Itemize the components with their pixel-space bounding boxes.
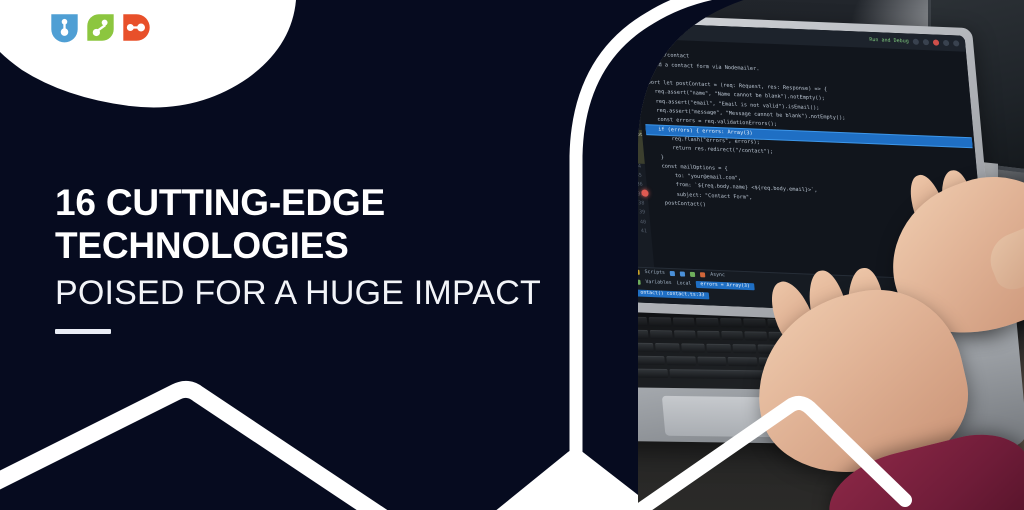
logo-leaf-green-icon xyxy=(84,11,117,44)
settings-icon[interactable] xyxy=(943,40,950,46)
step-into-icon[interactable] xyxy=(680,271,685,276)
marketing-banner: contacts.ts Run and Debug xyxy=(0,0,1024,510)
line-number: 41 xyxy=(640,227,651,237)
scope-label: Local xyxy=(677,281,692,287)
editor-path-chip: rary root xyxy=(616,129,645,164)
accent-rule xyxy=(55,329,111,334)
run-config-label[interactable]: Run and Debug xyxy=(869,37,909,45)
bottom-left-chevron-stroke xyxy=(0,389,402,510)
line-number: 39 xyxy=(639,209,650,219)
search-icon[interactable] xyxy=(953,40,960,46)
hero-photo: contacts.ts Run and Debug xyxy=(560,0,1024,510)
chevron-down-icon[interactable] xyxy=(635,280,640,285)
brand-logo[interactable] xyxy=(48,11,153,44)
debug-status: ontact() contact.ts:33 xyxy=(636,290,709,300)
step-over-icon[interactable] xyxy=(670,271,675,276)
line-number: 21 xyxy=(624,42,635,52)
breakpoint-icon[interactable] xyxy=(641,189,649,196)
line-number: 24 xyxy=(626,70,637,80)
stop-icon[interactable] xyxy=(933,39,940,45)
resume-icon[interactable] xyxy=(700,272,705,277)
line-number: 26 xyxy=(628,88,639,98)
scripts-icon[interactable] xyxy=(634,270,639,275)
line-number: 40 xyxy=(640,218,651,228)
line-number: 28 xyxy=(630,107,641,117)
line-number: 23 xyxy=(625,60,636,70)
line-number: 38 xyxy=(638,199,649,209)
line-number: 25 xyxy=(627,79,638,89)
play-icon[interactable] xyxy=(913,39,920,45)
hero-text-block: 16 CUTTING-EDGE TECHNOLOGIES POISED FOR … xyxy=(55,181,575,334)
line-number: 29 xyxy=(630,116,641,126)
editor-path-label: rary root xyxy=(616,129,643,141)
page-subtitle: POISED FOR A HUGE IMPACT xyxy=(55,271,575,315)
line-number: 35 xyxy=(635,172,646,182)
logo-shield-blue-icon xyxy=(48,11,81,44)
async-label[interactable]: Async xyxy=(710,273,725,279)
watch-value: errors = Array(3) xyxy=(696,281,754,290)
step-out-icon[interactable] xyxy=(690,272,695,277)
line-number: 22 xyxy=(624,51,635,61)
bug-icon[interactable] xyxy=(923,39,930,45)
line-number: 27 xyxy=(629,97,640,107)
editor-tab-contacts[interactable]: contacts.ts xyxy=(628,25,677,37)
scripts-label[interactable]: Scripts xyxy=(644,270,665,276)
page-title: 16 CUTTING-EDGE TECHNOLOGIES xyxy=(55,181,575,267)
variables-label: Variables xyxy=(645,280,672,286)
logo-d-orange-icon xyxy=(120,11,153,44)
editor-toolbar: Run and Debug xyxy=(869,37,965,47)
